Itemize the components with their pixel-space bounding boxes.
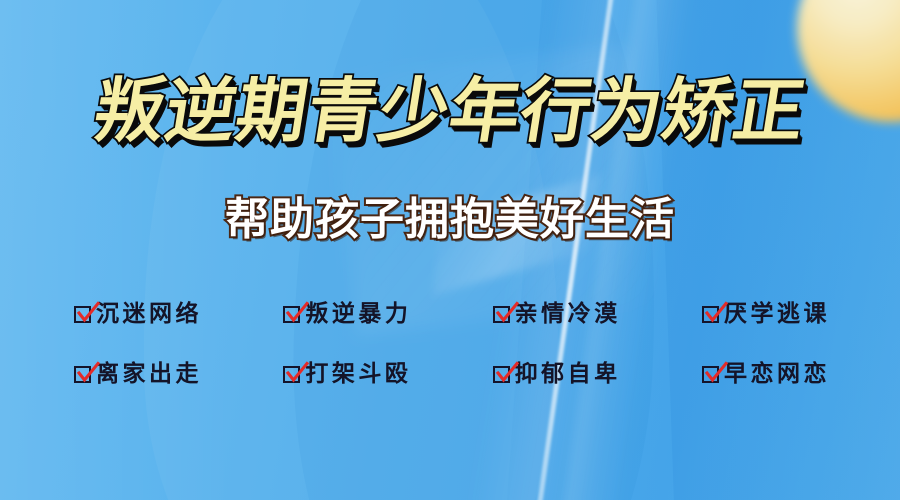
checklist-item[interactable]: 抑郁自卑 [493,363,621,386]
title-container: 叛逆期青少年行为矫正 [0,76,900,146]
checklist-item-label: 抑郁自卑 [513,363,621,386]
checklist-item-label: 厌学逃课 [722,303,830,326]
promo-banner: 叛逆期青少年行为矫正 帮助孩子拥抱美好生活 沉迷网络 [0,0,900,500]
checkbox-checked-icon[interactable] [493,366,510,383]
checklist-row: 离家出走 打架斗殴 抑郁自卑 [74,352,830,396]
checklist-item-label: 早恋网恋 [722,363,830,386]
checkbox-checked-icon[interactable] [702,306,719,323]
sub-title: 帮助孩子拥抱美好生活 [225,196,675,244]
checklist-item[interactable]: 早恋网恋 [702,363,830,386]
checkbox-checked-icon[interactable] [702,366,719,383]
checkbox-checked-icon[interactable] [74,306,91,323]
subtitle-container: 帮助孩子拥抱美好生活 [0,196,900,244]
checklist-item-label: 沉迷网络 [94,303,202,326]
checklist-row: 沉迷网络 叛逆暴力 亲情冷漠 [74,292,830,336]
checkbox-checked-icon[interactable] [74,366,91,383]
checkbox-checked-icon[interactable] [283,366,300,383]
checklist-item[interactable]: 离家出走 [74,363,202,386]
checkbox-checked-icon[interactable] [283,306,300,323]
main-title: 叛逆期青少年行为矫正 [89,76,810,146]
checklist: 沉迷网络 叛逆暴力 亲情冷漠 [74,292,830,396]
checklist-item[interactable]: 沉迷网络 [74,303,202,326]
checklist-item[interactable]: 叛逆暴力 [283,303,411,326]
checklist-item-label: 亲情冷漠 [513,303,621,326]
checklist-item[interactable]: 打架斗殴 [283,363,411,386]
checkbox-checked-icon[interactable] [493,306,510,323]
checklist-item-label: 叛逆暴力 [303,303,411,326]
checklist-item-label: 打架斗殴 [303,363,411,386]
checklist-item[interactable]: 厌学逃课 [702,303,830,326]
checklist-item-label: 离家出走 [94,363,202,386]
checklist-item[interactable]: 亲情冷漠 [493,303,621,326]
